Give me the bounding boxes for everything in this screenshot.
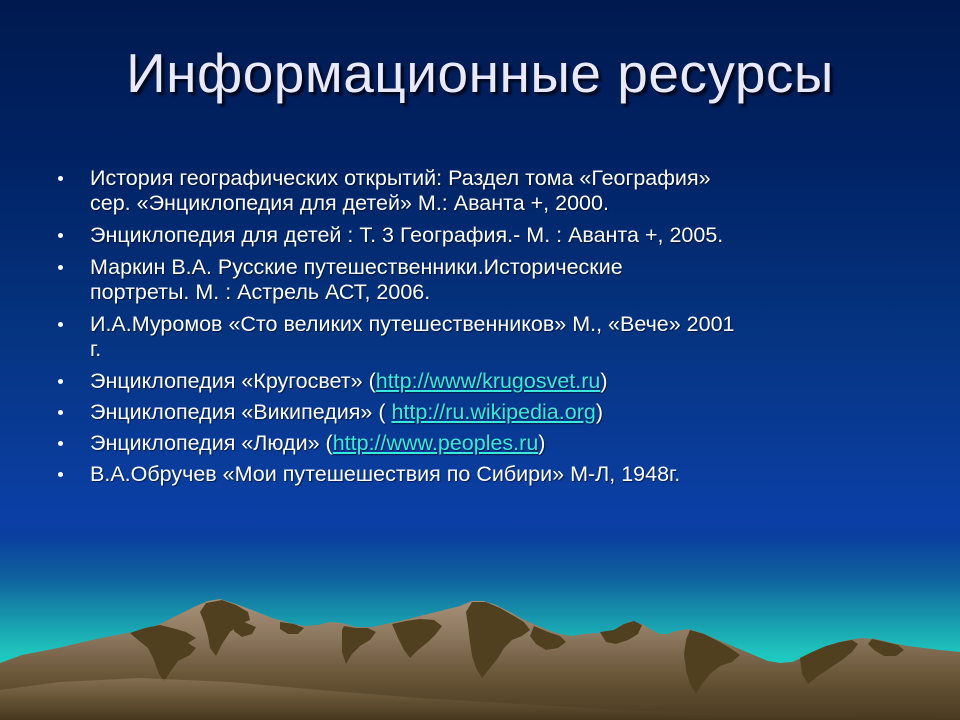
list-item-text: Энциклопедия «Кругосвет» ( <box>90 369 376 393</box>
list-item-line: портреты. М. : Астрель АСТ, 2006. <box>90 280 928 305</box>
link-krugosvet[interactable]: http://www/krugosvet.ru <box>376 369 601 393</box>
list-item-text: ) <box>538 431 545 455</box>
bullet-dot-icon <box>58 472 63 477</box>
list-item: История географических открытий: Раздел … <box>44 166 928 216</box>
bullet-dot-icon <box>58 322 63 327</box>
list-item-text: Энциклопедия «Люди» ( <box>90 431 333 455</box>
list-item-text: ) <box>596 400 603 424</box>
list-item: Энциклопедия «Люди» (http://www.peoples.… <box>44 431 928 456</box>
list-item-line: И.А.Муромов «Сто великих путешественнико… <box>90 312 928 337</box>
bullet-dot-icon <box>58 379 63 384</box>
list-item-line: В.А.Обручев «Мои путешешествия по Сибири… <box>90 462 928 487</box>
list-item-line: Энциклопедия «Википедия» ( http://ru.wik… <box>90 400 928 425</box>
list-item: Энциклопедия для детей : Т. 3 География.… <box>44 223 928 248</box>
bullet-dot-icon <box>58 410 63 415</box>
list-item-line: История географических открытий: Раздел … <box>90 166 928 191</box>
list-item: В.А.Обручев «Мои путешешествия по Сибири… <box>44 462 928 487</box>
presentation-slide: Информационные ресурсы История географич… <box>0 0 960 720</box>
bullet-list: История географических открытий: Раздел … <box>44 166 928 494</box>
list-item: И.А.Муромов «Сто великих путешественнико… <box>44 312 928 362</box>
bullet-dot-icon <box>58 176 63 181</box>
list-item-line: Энциклопедия «Люди» (http://www.peoples.… <box>90 431 928 456</box>
bullet-dot-icon <box>58 265 63 270</box>
bullet-dot-icon <box>58 441 63 446</box>
list-item-text: ) <box>600 369 607 393</box>
list-item-line: сер. «Энциклопедия для детей» М.: Аванта… <box>90 191 928 216</box>
list-item-line: г. <box>90 337 928 362</box>
link-peoples[interactable]: http://www.peoples.ru <box>333 431 539 455</box>
list-item-line: Энциклопедия «Кругосвет» (http://www/kru… <box>90 369 928 394</box>
bullet-dot-icon <box>58 233 63 238</box>
list-item: Энциклопедия «Кругосвет» (http://www/kru… <box>44 369 928 394</box>
slide-title-area: Информационные ресурсы <box>0 42 960 104</box>
list-item: Энциклопедия «Википедия» ( http://ru.wik… <box>44 400 928 425</box>
list-item-line: Маркин В.А. Русские путешественники.Исто… <box>90 255 928 280</box>
list-item-line: Энциклопедия для детей : Т. 3 География.… <box>90 223 928 248</box>
page-title: Информационные ресурсы <box>126 42 834 104</box>
list-item: Маркин В.А. Русские путешественники.Исто… <box>44 255 928 305</box>
list-item-text: Энциклопедия «Википедия» ( <box>90 400 391 424</box>
link-wikipedia[interactable]: http://ru.wikipedia.org <box>391 400 595 424</box>
